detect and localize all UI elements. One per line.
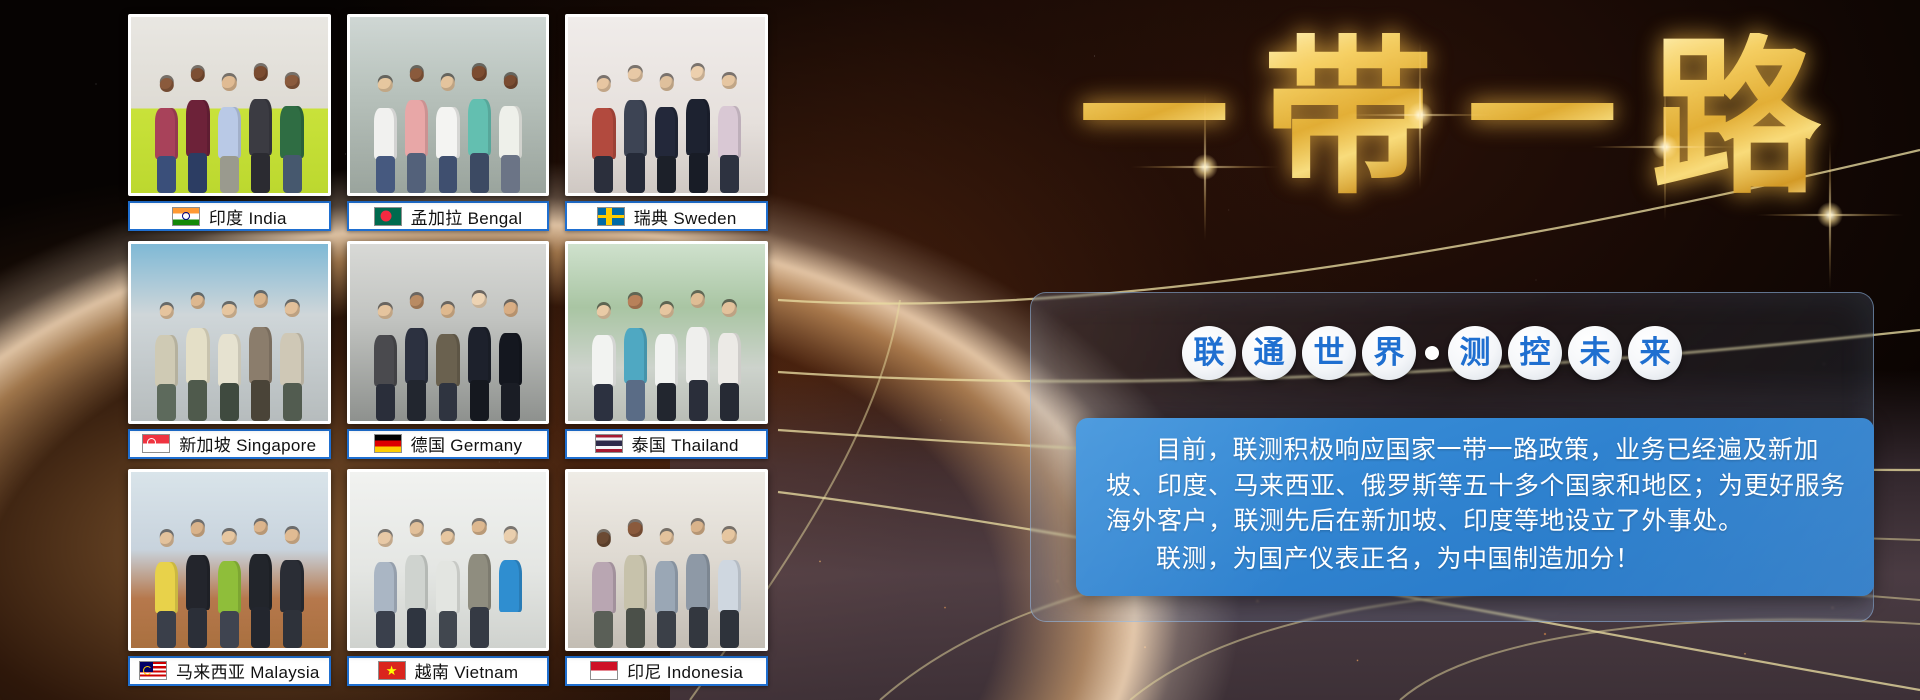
photo-person <box>466 521 494 648</box>
photo-person <box>215 531 243 648</box>
description-paragraph-2: 联测，为国产仪表正名，为中国制造加分！ <box>1106 541 1848 577</box>
photo-people-group <box>350 276 547 421</box>
photo-person <box>403 68 431 194</box>
flag-thailand-icon <box>595 434 623 453</box>
country-label-text: 德国 Germany <box>411 431 523 456</box>
flag-indonesia-icon <box>590 661 618 680</box>
gallery-cell[interactable]: 瑞典 Sweden <box>565 14 768 231</box>
photo-person <box>716 75 744 194</box>
slogan-bead: 未 <box>1568 326 1622 380</box>
country-label-text: 瑞典 Sweden <box>634 204 737 229</box>
photo-people-group <box>568 503 765 648</box>
photo-person <box>684 66 712 193</box>
photo-person <box>497 75 525 194</box>
country-photo[interactable] <box>565 14 768 196</box>
photo-person <box>466 66 494 193</box>
photo-people-group <box>568 276 765 421</box>
gallery-cell[interactable]: 泰国 Thailand <box>565 241 768 458</box>
country-photo[interactable] <box>128 14 331 196</box>
photo-person <box>247 66 275 193</box>
hero-char-2: 带 <box>1263 33 1433 203</box>
flag-vietnam-icon <box>378 661 406 680</box>
photo-person <box>247 521 275 648</box>
photo-person <box>434 531 462 648</box>
hero-char-4: 路 <box>1651 33 1821 203</box>
gallery-cell[interactable]: 孟加拉 Bengal <box>347 14 550 231</box>
photo-people-group <box>350 503 547 648</box>
photo-person <box>716 529 744 648</box>
photo-people-group <box>350 49 547 194</box>
gallery-cell[interactable]: 德国 Germany <box>347 241 550 458</box>
country-label-text: 印度 India <box>209 204 287 229</box>
country-label-text: 泰国 Thailand <box>632 431 739 456</box>
slogan-bead: 控 <box>1508 326 1562 380</box>
hero-char-3: 一 <box>1467 43 1617 193</box>
photo-person <box>621 68 649 194</box>
country-photo[interactable] <box>565 469 768 651</box>
country-label-text: 越南 Vietnam <box>415 658 519 683</box>
photo-person <box>684 293 712 420</box>
hero-char-1: 一 <box>1079 43 1229 193</box>
photo-person <box>590 532 618 648</box>
photo-person <box>371 305 399 421</box>
slogan-bead: 世 <box>1302 326 1356 380</box>
country-photo[interactable] <box>347 14 550 196</box>
flag-bangladesh-icon <box>374 207 402 226</box>
country-label: 印度 India <box>128 201 331 231</box>
description-textbox: 目前，联测积极响应国家一带一路政策，业务已经遍及新加坡、印度、马来西亚、俄罗斯等… <box>1076 418 1874 596</box>
photo-person <box>590 78 618 194</box>
flag-germany-icon <box>374 434 402 453</box>
photo-person <box>434 76 462 193</box>
country-photo[interactable] <box>347 241 550 423</box>
photo-person <box>371 78 399 194</box>
photo-person <box>215 304 243 421</box>
flag-india-icon <box>172 207 200 226</box>
flag-malaysia-icon <box>139 661 167 680</box>
flag-singapore-icon <box>142 434 170 453</box>
country-label-text: 孟加拉 Bengal <box>411 204 523 229</box>
hero-title-belt-and-road: 一 带 一 路 <box>1010 8 1890 228</box>
country-label: 越南 Vietnam <box>347 656 550 686</box>
country-label: 新加坡 Singapore <box>128 429 331 459</box>
photo-person <box>653 531 681 648</box>
photo-people-group <box>131 49 328 194</box>
description-paragraph-1: 目前，联测积极响应国家一带一路政策，业务已经遍及新加坡、印度、马来西亚、俄罗斯等… <box>1106 432 1848 539</box>
photo-person <box>215 76 243 193</box>
country-label-text: 新加坡 Singapore <box>179 431 316 456</box>
slogan-bead: 通 <box>1242 326 1296 380</box>
country-photo[interactable] <box>128 241 331 423</box>
country-label: 印尼 Indonesia <box>565 656 768 686</box>
photo-person <box>684 521 712 648</box>
photo-person <box>621 522 649 648</box>
photo-people-group <box>131 503 328 648</box>
photo-person <box>403 522 431 648</box>
gallery-cell[interactable]: 新加坡 Singapore <box>128 241 331 458</box>
country-label: 瑞典 Sweden <box>565 201 768 231</box>
photo-person <box>371 532 399 648</box>
photo-person <box>621 295 649 421</box>
gallery-cell[interactable]: 马来西亚 Malaysia <box>128 469 331 686</box>
country-label: 泰国 Thailand <box>565 429 768 459</box>
photo-person <box>590 305 618 421</box>
photo-person <box>653 304 681 421</box>
photo-person <box>278 529 306 648</box>
country-label-text: 印尼 Indonesia <box>627 658 743 683</box>
gallery-cell[interactable]: 越南 Vietnam <box>347 469 550 686</box>
country-photo-grid: 印度 India孟加拉 Bengal瑞典 Sweden新加坡 Singapore… <box>128 14 768 686</box>
slogan-bead: 界 <box>1362 326 1416 380</box>
country-photo[interactable] <box>128 469 331 651</box>
banner-stage: 印度 India孟加拉 Bengal瑞典 Sweden新加坡 Singapore… <box>0 0 1920 700</box>
photo-person <box>466 293 494 420</box>
photo-person <box>247 293 275 420</box>
photo-person <box>278 75 306 194</box>
photo-person <box>184 522 212 648</box>
country-label: 马来西亚 Malaysia <box>128 656 331 686</box>
gallery-cell[interactable]: 印度 India <box>128 14 331 231</box>
photo-person <box>153 532 181 648</box>
slogan-badges: 联通世界测控未来 <box>1172 322 1692 384</box>
photo-person <box>153 78 181 194</box>
photo-person <box>403 295 431 421</box>
country-label: 德国 Germany <box>347 429 550 459</box>
photo-person <box>434 304 462 421</box>
slogan-separator-dot <box>1425 346 1439 360</box>
slogan-bead: 联 <box>1182 326 1236 380</box>
photo-people-group <box>131 276 328 421</box>
photo-person <box>278 302 306 421</box>
photo-person <box>497 529 525 648</box>
flag-sweden-icon <box>597 207 625 226</box>
photo-person <box>184 68 212 194</box>
photo-people-group <box>568 49 765 194</box>
photo-person <box>497 302 525 421</box>
country-label-text: 马来西亚 Malaysia <box>176 658 320 683</box>
photo-person <box>153 305 181 421</box>
photo-person <box>184 295 212 421</box>
country-photo[interactable] <box>347 469 550 651</box>
photo-person <box>653 76 681 193</box>
slogan-bead: 来 <box>1628 326 1682 380</box>
photo-person <box>716 302 744 421</box>
slogan-bead: 测 <box>1448 326 1502 380</box>
country-label: 孟加拉 Bengal <box>347 201 550 231</box>
country-photo[interactable] <box>565 241 768 423</box>
gallery-cell[interactable]: 印尼 Indonesia <box>565 469 768 686</box>
